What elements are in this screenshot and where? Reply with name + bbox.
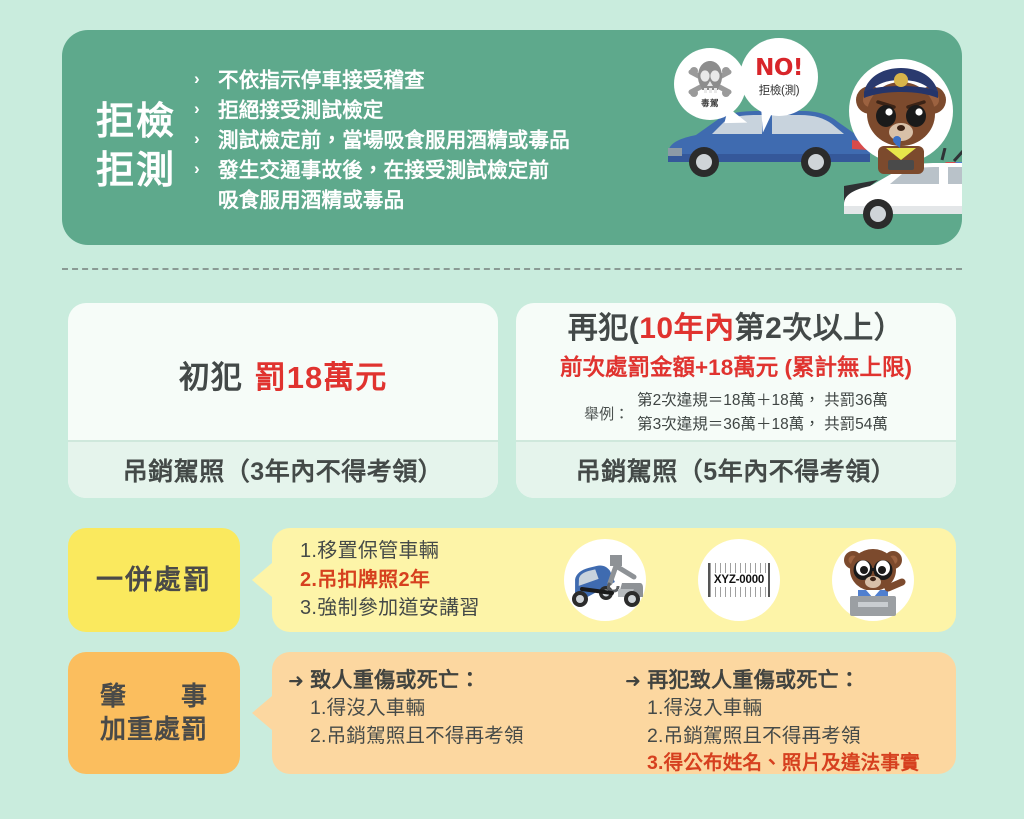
first-offense-line: 初犯罰18萬元 xyxy=(179,352,387,397)
example-line: 第3次違規＝36萬＋18萬， 共罰54萬 xyxy=(637,413,888,437)
refusal-label: 拒檢(測) xyxy=(759,82,800,98)
repeat-offense-footer: 吊銷駕照（5年內不得考領） xyxy=(516,440,956,498)
bear-lecture-icon xyxy=(836,544,910,616)
aggravated-penalty-content: ➜致人重傷或死亡： 1.得沒入車輛 2.吊銷駕照且不得再考領 ➜再犯致人重傷或死… xyxy=(272,652,956,774)
list-item: › 測試檢定前，當場吸食服用酒精或毒品 xyxy=(190,126,650,156)
repeat-offense-subtitle: 前次處罰金額+18萬元 (累計無上限) xyxy=(560,350,912,382)
first-offense-amount: 罰18萬元 xyxy=(255,360,387,395)
joint-penalty-content: 1.移置保管車輛 2.吊扣牌照2年 3.強制參加道安講習 xyxy=(272,528,956,632)
list-item-continuation: 吸食服用酒精或毒品 xyxy=(190,186,650,216)
aggravated-penalty-tag: 肇 事 加重處罰 xyxy=(68,652,240,774)
column-heading: ➜致人重傷或死亡： xyxy=(288,664,603,694)
list-item: › 發生交通事故後，在接受測試檢定前 xyxy=(190,156,650,186)
repeat-title-post: 第2次以上） xyxy=(735,312,905,345)
column-heading: ➜再犯致人重傷或死亡： xyxy=(625,664,940,694)
list-item: 2.吊銷駕照且不得再考領 xyxy=(310,723,603,751)
license-plate-number: XYZ-0000 xyxy=(712,573,766,587)
no-label: NO! xyxy=(755,57,803,80)
aggravated-tag-line-2: 加重處罰 xyxy=(100,713,208,746)
aggravated-penalty-section: 肇 事 加重處罰 ➜致人重傷或死亡： 1.得沒入車輛 2.吊銷駕照且不得再考領 xyxy=(68,652,956,774)
repeat-offense-body: 再犯(10年內第2次以上） 前次處罰金額+18萬元 (累計無上限) 舉例： 第2… xyxy=(516,303,956,440)
column-heading-label: 再犯致人重傷或死亡： xyxy=(647,669,860,692)
header-illustration: 毒駕 NO! 拒檢(測) xyxy=(622,30,962,245)
bear-lecture-icon-circle xyxy=(832,539,914,621)
joint-penalty-tag: 一併處罰 xyxy=(68,528,240,632)
joint-penalty-section: 一併處罰 1.移置保管車輛 2.吊扣牌照2年 3.強制參加道安講習 xyxy=(68,528,956,632)
refusal-speech-bubble: NO! 拒檢(測) xyxy=(740,38,818,116)
arrow-right-icon: ➜ xyxy=(625,671,641,692)
example-line: 第2次違規＝18萬＋18萬， 共罰36萬 xyxy=(637,389,888,413)
list-item: › 拒絕接受測試檢定 xyxy=(190,96,650,126)
aggravated-list-first: 1.得沒入車輛 2.吊銷駕照且不得再考領 xyxy=(288,695,603,750)
list-item: 2.吊銷駕照且不得再考領 xyxy=(647,723,940,751)
skull-crossbones-icon xyxy=(688,60,732,100)
first-offense-card: 初犯罰18萬元 吊銷駕照（3年內不得考領） xyxy=(68,303,498,498)
list-item: › 不依指示停車接受稽查 xyxy=(190,66,650,96)
joint-penalty-icons: XYZ-0000 xyxy=(538,539,940,621)
triangle-pointer-icon xyxy=(252,696,272,730)
aggravated-list-repeat: 1.得沒入車輛 2.吊銷駕照且不得再考領 3.得公布姓名、照片及違法事實 xyxy=(625,695,940,778)
column-heading-label: 致人重傷或死亡： xyxy=(310,669,480,692)
chevron-right-icon: › xyxy=(194,67,200,92)
list-item-label: 吸食服用酒精或毒品 xyxy=(218,189,404,212)
list-item-label: 拒絕接受測試檢定 xyxy=(218,99,384,122)
first-offense-label: 初犯 xyxy=(179,360,243,395)
list-item-label: 不依指示停車接受稽查 xyxy=(218,69,425,92)
repeat-offense-title: 再犯(10年內第2次以上） xyxy=(568,312,905,347)
violation-list: › 不依指示停車接受稽查 › 拒絕接受測試檢定 › 測試檢定前，當場吸食服用酒精… xyxy=(190,66,650,216)
chevron-right-icon: › xyxy=(194,97,200,122)
list-item: 3.得公布姓名、照片及違法事實 xyxy=(647,750,940,778)
first-offense-body: 初犯罰18萬元 xyxy=(68,303,498,440)
repeat-title-highlight: 10年內 xyxy=(639,312,734,345)
section-divider xyxy=(62,268,962,270)
example-label: 舉例： xyxy=(584,403,629,424)
first-offense-footer: 吊銷駕照（3年內不得考領） xyxy=(68,440,498,498)
aggravated-tag-line-1: 肇 事 xyxy=(100,680,208,713)
infographic-page: 拒檢 拒測 › 不依指示停車接受稽查 › 拒絕接受測試檢定 › 測試檢定前，當場… xyxy=(0,0,1024,819)
penalty-cards: 初犯罰18萬元 吊銷駕照（3年內不得考領） 再犯(10年內第2次以上） 前次處罰… xyxy=(68,303,956,498)
repeat-offense-card: 再犯(10年內第2次以上） 前次處罰金額+18萬元 (累計無上限) 舉例： 第2… xyxy=(516,303,956,498)
repeat-title-pre: 再犯( xyxy=(568,312,640,345)
header-panel: 拒檢 拒測 › 不依指示停車接受稽查 › 拒絕接受測試檢定 › 測試檢定前，當場… xyxy=(62,30,962,245)
tow-truck-icon xyxy=(566,549,644,611)
list-item-label: 測試檢定前，當場吸食服用酒精或毒品 xyxy=(218,129,570,152)
license-plate-icon-circle: XYZ-0000 xyxy=(698,539,780,621)
police-bear-mascot-icon xyxy=(848,56,954,176)
license-plate-icon: XYZ-0000 xyxy=(708,563,770,597)
list-item-label: 發生交通事故後，在接受測試檢定前 xyxy=(218,159,549,182)
aggravated-column-repeat: ➜再犯致人重傷或死亡： 1.得沒入車輛 2.吊銷駕照且不得再考領 3.得公布姓名… xyxy=(603,662,940,764)
list-item: 2.吊扣牌照2年 xyxy=(300,566,538,594)
drug-driving-speech-bubble: 毒駕 xyxy=(674,48,746,120)
chevron-right-icon: › xyxy=(194,157,200,182)
list-item: 1.得沒入車輛 xyxy=(310,695,603,723)
joint-penalty-list: 1.移置保管車輛 2.吊扣牌照2年 3.強制參加道安講習 xyxy=(288,537,538,622)
example-lines: 第2次違規＝18萬＋18萬， 共罰36萬 第3次違規＝36萬＋18萬， 共罰54… xyxy=(637,389,888,437)
list-item: 1.得沒入車輛 xyxy=(647,695,940,723)
example-block: 舉例： 第2次違規＝18萬＋18萬， 共罰36萬 第3次違規＝36萬＋18萬， … xyxy=(526,389,946,437)
arrow-right-icon: ➜ xyxy=(288,671,304,692)
list-item: 1.移置保管車輛 xyxy=(300,537,538,565)
triangle-pointer-icon xyxy=(252,563,272,597)
aggravated-column-first: ➜致人重傷或死亡： 1.得沒入車輛 2.吊銷駕照且不得再考領 xyxy=(288,662,603,764)
chevron-right-icon: › xyxy=(194,127,200,152)
list-item: 3.強制參加道安講習 xyxy=(300,594,538,622)
tow-truck-icon-circle xyxy=(564,539,646,621)
